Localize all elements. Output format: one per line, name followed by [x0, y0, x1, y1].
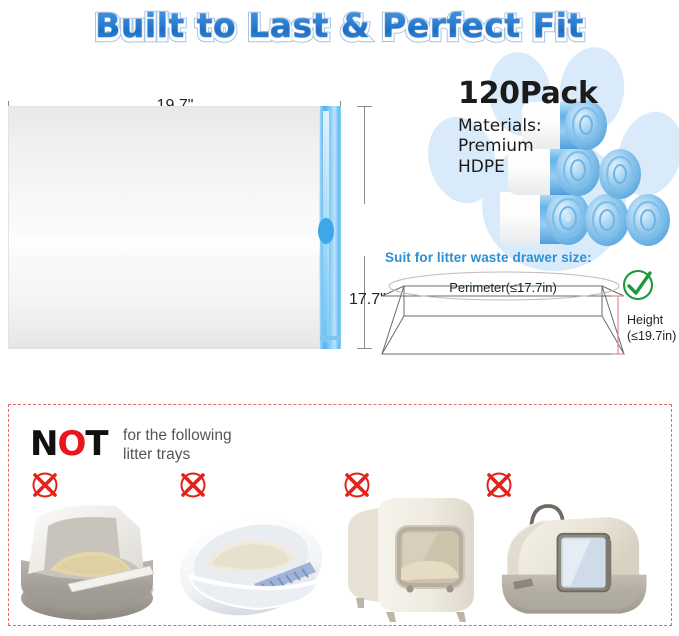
drawer-corner-right: [602, 316, 624, 354]
roll-bottom-2: [585, 194, 629, 246]
materials-line-3: HDPE: [458, 157, 598, 178]
green-check-circle-icon: [621, 268, 655, 302]
height-limit-line-1: Height: [627, 313, 679, 329]
incompatible-tray-1: [4, 462, 170, 628]
not-subtext-line-1: for the following: [123, 426, 232, 445]
enclosed-cube-litter-box: [338, 488, 504, 626]
title-fill-layer: Built to Last & Perfect Fit: [0, 4, 679, 48]
bag-body: [8, 106, 320, 349]
roll-bottom-3: [626, 194, 670, 246]
drawer-corner-left: [382, 316, 404, 354]
incompatible-tray-2: [168, 462, 334, 628]
header-banner: Built to Last & Perfect Fit Built to Las…: [0, 2, 679, 46]
height-dimension-line: [353, 106, 375, 349]
bag-strip-bottom-band: [320, 336, 341, 340]
roll-bottom-1: [500, 191, 590, 245]
drawer-size-heading: Suit for litter waste drawer size:: [385, 250, 592, 265]
pack-info-block: 120Pack Materials: Premium HDPE: [458, 78, 598, 178]
perimeter-label: Perimeter(≤17.7in): [413, 280, 593, 295]
drawer-inner-top-left: [382, 286, 404, 296]
height-tick-bottom: [357, 348, 372, 349]
bag-highlight: [9, 227, 321, 257]
height-limit-label: Height (≤19.7in): [627, 313, 679, 344]
materials-line-1: Materials:: [458, 116, 598, 137]
materials-label: Materials: Premium HDPE: [458, 116, 598, 178]
incompatible-tray-4: [500, 462, 666, 628]
not-letter-n: N: [30, 424, 57, 464]
open-top-high-sided-litter-pan: [4, 488, 170, 626]
not-subtext-line-2: litter trays: [123, 445, 232, 464]
not-word: NOT: [30, 424, 108, 464]
tray3-side-panel: [348, 508, 380, 602]
roll-middle-2: [599, 149, 641, 199]
product-bag-illustration: 19.7" 17.7": [8, 85, 338, 350]
not-heading: NOT for the following litter trays: [30, 424, 232, 466]
bag-strip-knob: [318, 218, 334, 244]
height-tick-top: [357, 106, 372, 107]
not-subtext: for the following litter trays: [123, 424, 232, 464]
height-line-top: [364, 106, 365, 204]
materials-line-2: Premium: [458, 136, 598, 157]
oval-litter-basin-with-ramp: [168, 488, 334, 626]
height-limit-line-2: (≤19.7in): [627, 329, 679, 345]
pack-count-label: 120Pack: [458, 78, 598, 110]
not-letter-t: T: [85, 424, 107, 464]
hooded-litter-box-with-flap-door: [500, 488, 666, 626]
tray4-door-edge: [606, 536, 612, 590]
not-letter-o: O: [57, 424, 85, 464]
incompatible-tray-3: [338, 462, 504, 628]
page-title: Built to Last & Perfect Fit: [95, 4, 583, 48]
